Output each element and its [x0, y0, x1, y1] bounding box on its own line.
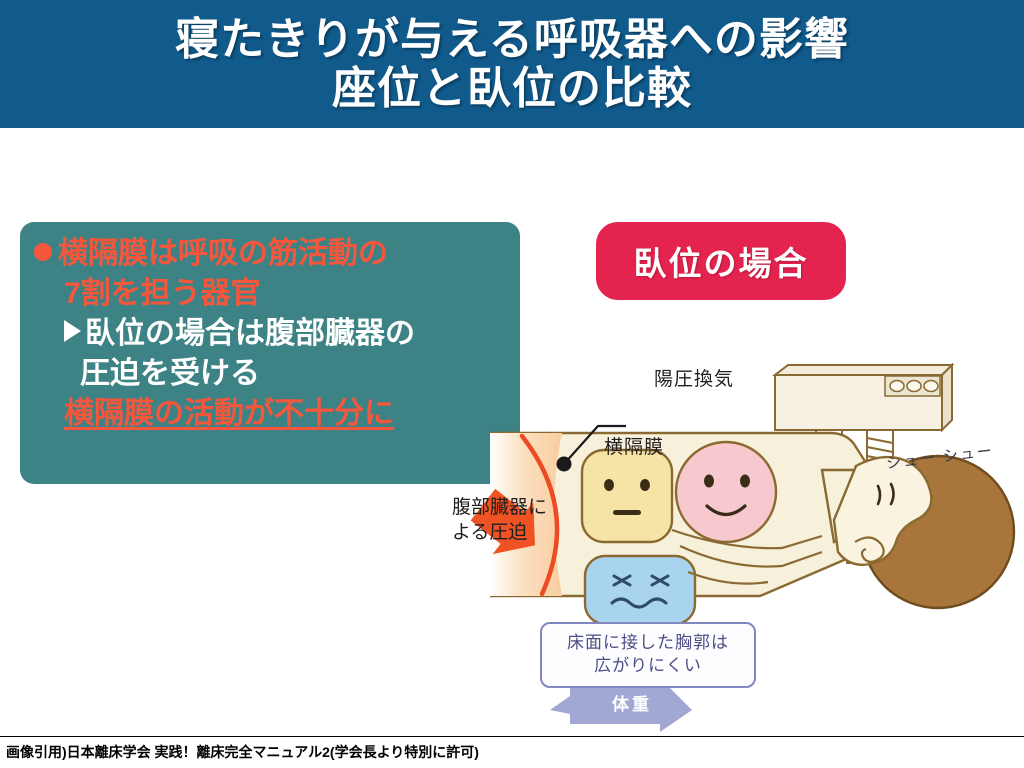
upper-lung-organ — [582, 450, 672, 542]
callout-line-1: 横隔膜は呼吸の筋活動の — [34, 234, 510, 274]
filled-circle-bullet-icon — [34, 243, 52, 261]
floor-note-line-2: 広がりにくい — [594, 655, 702, 678]
floor-contact-note: 床面に接した胸郭は 広がりにくい — [540, 622, 756, 688]
slide-title-banner: 寝たきりが与える呼吸器への影響 座位と臥位の比較 — [0, 0, 1024, 128]
abdominal-pressure-line-1: 腹部臓器に — [452, 496, 547, 521]
abdominal-pressure-label: 腹部臓器に よる圧迫 — [452, 496, 547, 545]
right-triangle-marker-icon — [64, 320, 81, 342]
abdominal-pressure-line-2: よる圧迫 — [452, 521, 547, 546]
lower-lung-organ — [585, 556, 695, 624]
ventilator-machine-icon — [775, 365, 952, 430]
diaphragm-label: 横隔膜 — [604, 436, 664, 461]
supine-position-badge: 臥位の場合 — [596, 222, 846, 300]
body-weight-label: 体重 — [612, 690, 652, 715]
ventilation-label: 陽圧換気 — [654, 368, 734, 393]
floor-note-line-1: 床面に接した胸郭は — [567, 632, 729, 655]
callout-line-3-text: 臥位の場合は腹部臓器の — [85, 317, 415, 350]
title-line-1: 寝たきりが与える呼吸器への影響 — [175, 15, 849, 64]
heart-organ — [676, 442, 776, 542]
footer-citation: 画像引用)日本離床学会 実践！離床完全マニュアル2(学会長より特別に許可) — [6, 742, 479, 762]
footer-divider — [0, 736, 1024, 737]
callout-line-2: 7割を担う器官 — [34, 274, 510, 314]
title-line-2: 座位と臥位の比較 — [332, 64, 692, 113]
callout-line-1-text: 横隔膜は呼吸の筋活動の — [58, 237, 388, 270]
badge-label: 臥位の場合 — [634, 237, 809, 285]
